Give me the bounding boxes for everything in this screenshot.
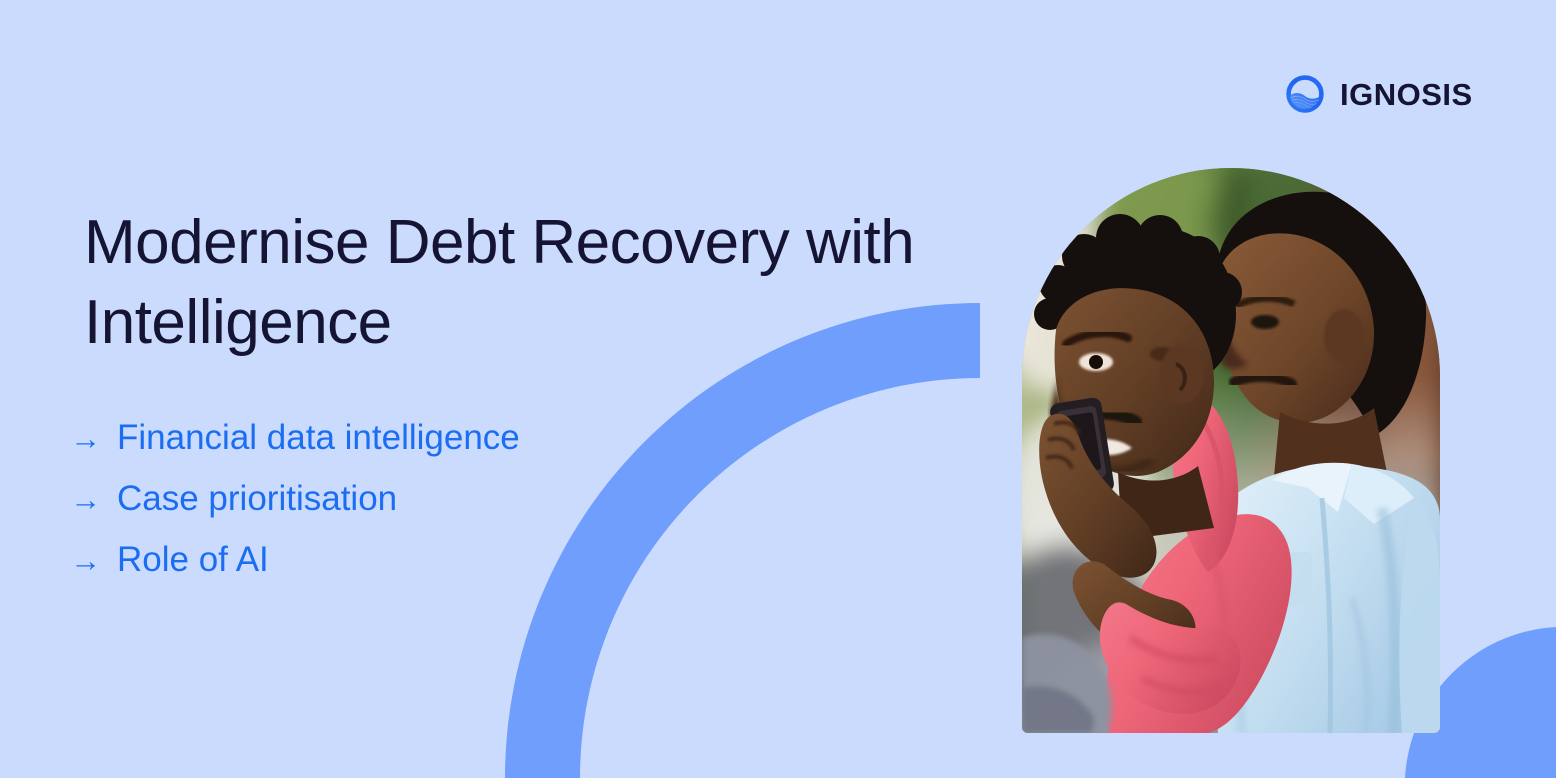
- hero-photo-illustration: [1022, 168, 1440, 733]
- list-item: → Case prioritisation: [70, 469, 690, 530]
- list-item-label: Role of AI: [117, 530, 269, 590]
- arrow-right-icon: →: [70, 470, 100, 530]
- arrow-right-icon: →: [70, 409, 100, 469]
- hero-photo: [1022, 168, 1440, 733]
- brand-logo[interactable]: IGNOSIS: [1283, 70, 1473, 118]
- feature-bullet-list: → Financial data intelligence → Case pri…: [70, 408, 690, 591]
- brand-wordmark: IGNOSIS: [1340, 79, 1473, 110]
- ignosis-circle-wave-logo-icon: [1283, 72, 1327, 116]
- slide-canvas: IGNOSIS Modernise Debt Recovery with Int…: [0, 0, 1556, 778]
- arrow-right-icon: →: [70, 531, 100, 591]
- list-item-label: Financial data intelligence: [117, 408, 520, 468]
- list-item: → Financial data intelligence: [70, 408, 690, 469]
- list-item-label: Case prioritisation: [117, 469, 397, 529]
- list-item: → Role of AI: [70, 530, 690, 591]
- page-title: Modernise Debt Recovery with Intelligenc…: [84, 203, 964, 363]
